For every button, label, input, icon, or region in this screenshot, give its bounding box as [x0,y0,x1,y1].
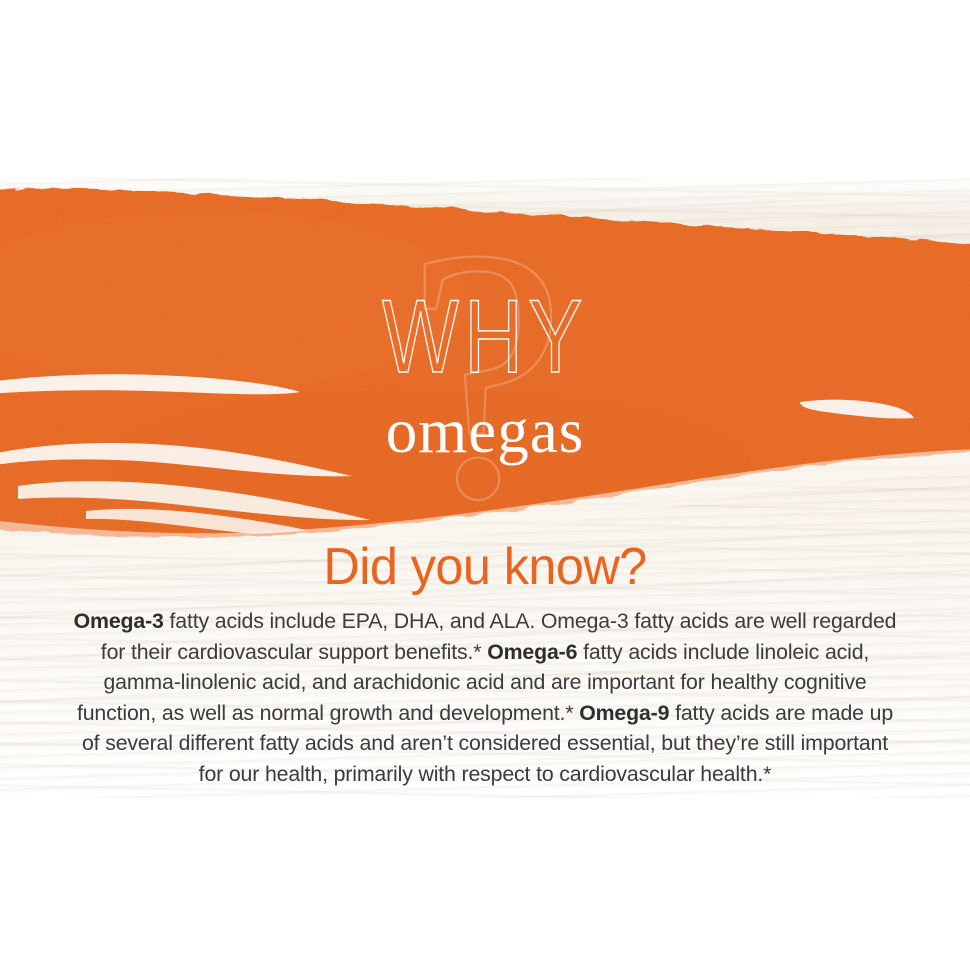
omega-label: Omega-3 [74,609,164,633]
body-text-run: fatty acids are made up [669,701,893,725]
did-you-know-heading: Did you know? [15,537,956,597]
hero-headline: WHY omegas [0,290,970,463]
body-text-run: gamma-linolenic acid, and arachidonic ac… [103,670,866,694]
body-line: of several different fatty acids and are… [42,728,928,759]
hero-omegas-text: omegas [0,400,970,463]
body-text-run: for their cardiovascular support benefit… [101,640,487,664]
body-text-run: fatty acids include EPA, DHA, and ALA. O… [164,609,897,633]
body-text-run: fatty acids include linoleic acid, [577,640,869,664]
body-line: for our health, primarily with respect t… [42,759,928,790]
hero-why-outline-text: WHY [107,290,864,386]
orange-brush-stroke: ? [0,0,970,970]
body-text-run: for our health, primarily with respect t… [199,762,772,786]
infographic-canvas: ? WHY omegas Did you know? Omega-3 fatty… [0,0,970,970]
body-text-run: function, as well as normal growth and d… [77,701,579,725]
body-paragraph: Omega-3 fatty acids include EPA, DHA, an… [42,606,928,789]
omega-label: Omega-9 [579,701,669,725]
omega-label: Omega-6 [487,640,577,664]
body-text-run: of several different fatty acids and are… [82,731,888,755]
body-line: gamma-linolenic acid, and arachidonic ac… [42,667,928,698]
body-line: for their cardiovascular support benefit… [42,637,928,668]
body-line: function, as well as normal growth and d… [42,698,928,729]
svg-text:?: ? [406,174,566,573]
body-line: Omega-3 fatty acids include EPA, DHA, an… [42,606,928,637]
